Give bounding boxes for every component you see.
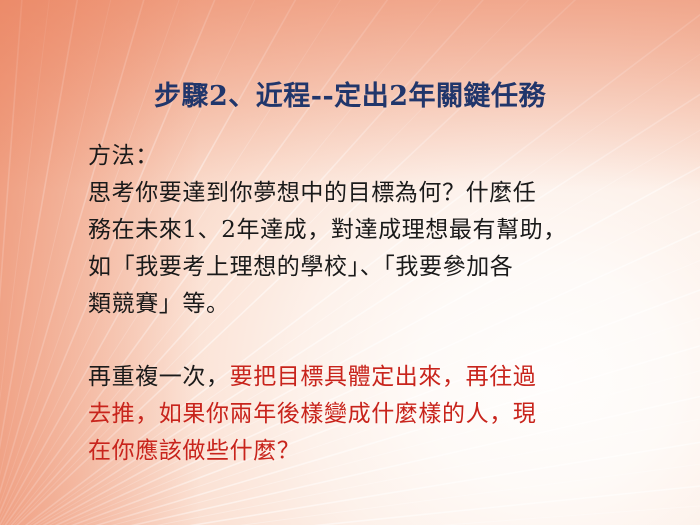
paragraph-spacer — [88, 323, 648, 359]
paragraph1-line-2: 務在未來1、2年達成，對達成理想最有幫助， — [88, 212, 648, 249]
paragraph1-line-3: 如「我要考上理想的學校」、「我要參加各 — [88, 249, 648, 286]
paragraph2-line-1-black-segment: 再重複一次， — [88, 364, 230, 390]
presentation-slide: 步驟2、近程--定出2年關鍵任務 方法： 思考你要達到你夢想中的目標為何？什麼任… — [0, 0, 700, 525]
paragraph1-line-4: 類競賽」等。 — [88, 286, 648, 323]
paragraph2-line-3: 在你應該做些什麼？ — [88, 433, 648, 470]
paragraph2-line-1-red-segment: 要把目標具體定出來，再往過 — [230, 364, 537, 390]
slide-body: 方法： 思考你要達到你夢想中的目標為何？什麼任 務在未來1、2年達成，對達成理想… — [88, 138, 648, 470]
method-heading: 方法： — [88, 138, 648, 175]
paragraph2-line-1: 再重複一次，要把目標具體定出來，再往過 — [88, 359, 648, 396]
paragraph1-line-1: 思考你要達到你夢想中的目標為何？什麼任 — [88, 175, 648, 212]
slide-title: 步驟2、近程--定出2年關鍵任務 — [0, 74, 700, 113]
slide-content: 步驟2、近程--定出2年關鍵任務 方法： 思考你要達到你夢想中的目標為何？什麼任… — [0, 0, 700, 525]
paragraph2-line-2: 去推，如果你兩年後樣變成什麼樣的人，現 — [88, 396, 648, 433]
